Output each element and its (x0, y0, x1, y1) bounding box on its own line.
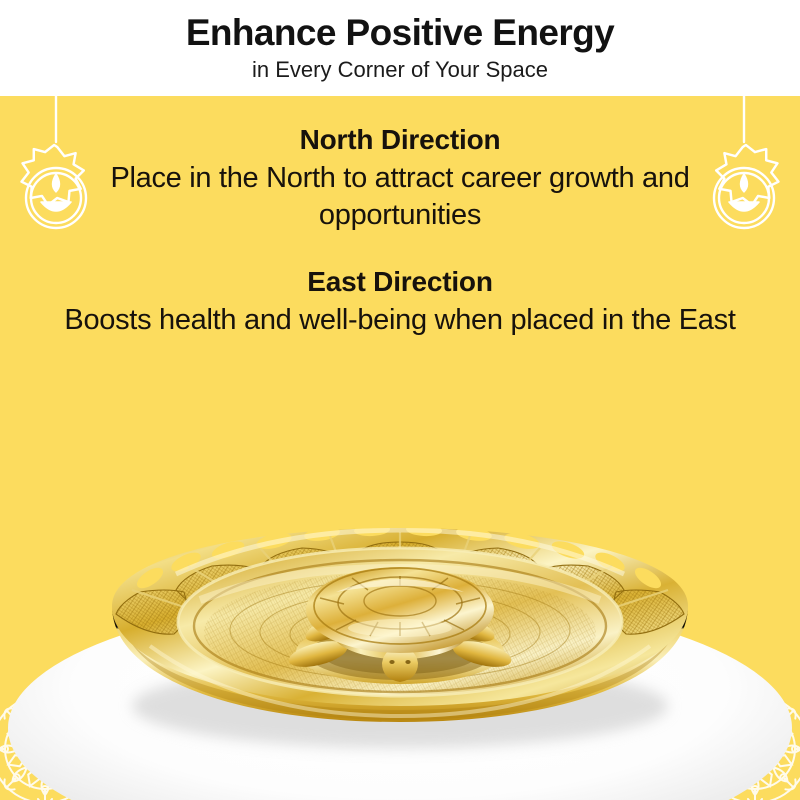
info-block-heading: East Direction (0, 264, 800, 299)
product-image (0, 470, 800, 800)
info-block-heading: North Direction (0, 122, 800, 157)
info-block-east: East Direction Boosts health and well-be… (0, 264, 800, 339)
info-block-body: Boosts health and well-being when placed… (0, 302, 800, 339)
page-subtitle: in Every Corner of Your Space (252, 57, 548, 83)
info-block-body: Place in the North to attract career gro… (0, 160, 800, 234)
info-blocks: North Direction Place in the North to at… (0, 122, 800, 338)
info-block-north: North Direction Place in the North to at… (0, 122, 800, 234)
poster-canvas: Enhance Positive Energy in Every Corner … (0, 0, 800, 800)
header-text-group: Enhance Positive Energy in Every Corner … (0, 0, 800, 96)
page-title: Enhance Positive Energy (186, 13, 614, 52)
